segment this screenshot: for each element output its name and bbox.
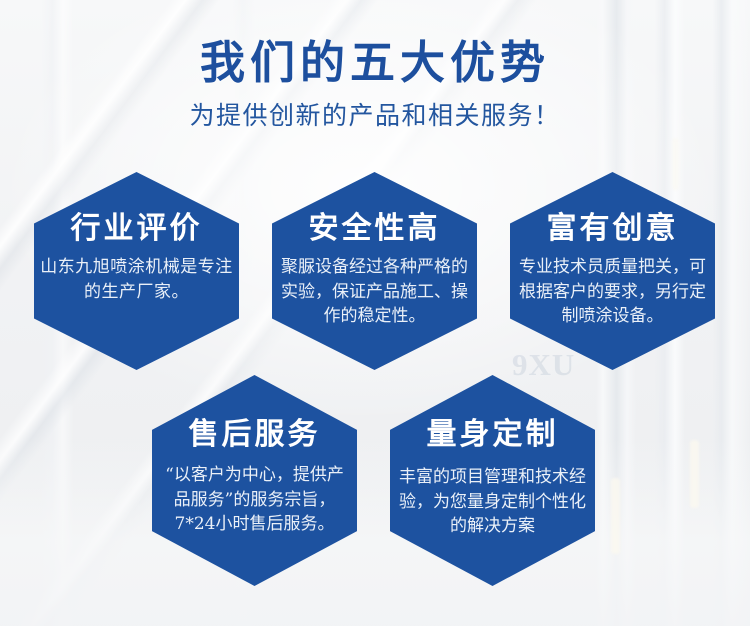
brand-watermark: 9XU bbox=[512, 347, 575, 383]
light-tube-2 bbox=[690, 440, 699, 508]
advantage-title: 售后服务 bbox=[189, 420, 321, 450]
advantage-title: 富有创意 bbox=[547, 214, 679, 244]
promo-banner: 9XU 我们的五大优势 为提供创新的产品和相关服务！ 行业评价 山东九旭喷涂机械… bbox=[0, 0, 750, 626]
advantage-body: 山东九旭喷涂机械是专注的生产厂家。 bbox=[34, 255, 239, 304]
advantage-body: “以客户为中心，提供产品服务”的服务宗旨，7*24小时售后服务。 bbox=[152, 463, 357, 537]
light-tube-3 bbox=[672, 138, 679, 190]
advantage-body: 聚脲设备经过各种严格的实验，保证产品施工、操作的稳定性。 bbox=[272, 255, 477, 329]
heading-block: 我们的五大优势 为提供创新的产品和相关服务！ bbox=[0, 40, 750, 128]
light-tube-1 bbox=[611, 478, 620, 554]
advantage-title: 行业评价 bbox=[71, 214, 203, 244]
advantage-body: 丰富的项目管理和技术经验，为您量身定制个性化的解决方案 bbox=[390, 465, 595, 539]
page-subtitle: 为提供创新的产品和相关服务！ bbox=[0, 103, 750, 128]
advantage-title: 安全性高 bbox=[309, 214, 441, 244]
advantage-title: 量身定制 bbox=[427, 420, 559, 450]
page-title: 我们的五大优势 bbox=[0, 40, 750, 85]
advantage-body: 专业技术员质量把关，可根据客户的要求，另行定制喷涂设备。 bbox=[510, 255, 715, 329]
